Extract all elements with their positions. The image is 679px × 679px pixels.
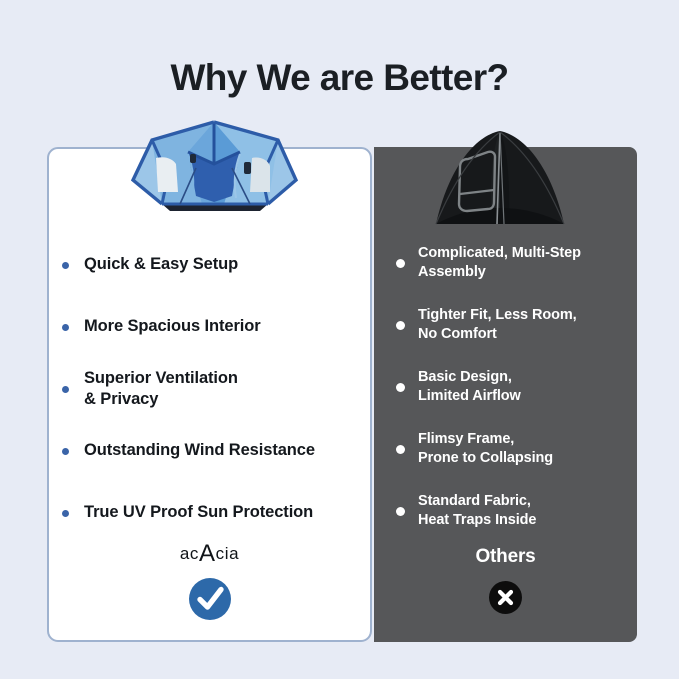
list-item: Complicated, Multi-StepAssembly: [396, 232, 628, 294]
list-item: True UV Proof Sun Protection: [62, 482, 362, 544]
list-item: Quick & Easy Setup: [62, 234, 362, 296]
brand-feature-list: Quick & Easy Setup More Spacious Interio…: [62, 234, 362, 544]
feature-label: Superior Ventilation& Privacy: [84, 368, 238, 410]
list-item: Outstanding Wind Resistance: [62, 420, 362, 482]
bullet-icon: [62, 386, 69, 393]
comparison-infographic: Why We are Better?: [0, 0, 679, 679]
feature-label: Quick & Easy Setup: [84, 254, 238, 275]
feature-label: True UV Proof Sun Protection: [84, 502, 313, 523]
bullet-icon: [62, 510, 69, 517]
feature-label: Complicated, Multi-StepAssembly: [418, 244, 581, 281]
competitor-footer: Others: [374, 545, 637, 614]
brand-logo-suffix: cia: [216, 544, 240, 563]
list-item: Tighter Fit, Less Room,No Comfort: [396, 294, 628, 356]
list-item: Basic Design,Limited Airflow: [396, 356, 628, 418]
check-circle-icon: [189, 578, 231, 620]
competitor-label: Others: [374, 545, 637, 569]
feature-label: Tighter Fit, Less Room,No Comfort: [418, 306, 577, 343]
bullet-icon: [62, 262, 69, 269]
list-item: Superior Ventilation& Privacy: [62, 358, 362, 420]
dark-dome-tent-image: [430, 128, 570, 231]
page-title: Why We are Better?: [0, 58, 679, 99]
brand-logo: acAcia: [47, 543, 372, 565]
feature-label: Basic Design,Limited Airflow: [418, 368, 521, 405]
bullet-icon: [396, 259, 405, 268]
brand-footer: acAcia: [47, 543, 372, 620]
x-circle-icon: [489, 581, 522, 614]
bullet-icon: [396, 383, 405, 392]
feature-label: More Spacious Interior: [84, 316, 261, 337]
bullet-icon: [62, 448, 69, 455]
bullet-icon: [62, 324, 69, 331]
feature-label: Standard Fabric,Heat Traps Inside: [418, 492, 536, 529]
competitor-feature-list: Complicated, Multi-StepAssembly Tighter …: [396, 232, 628, 542]
feature-label: Outstanding Wind Resistance: [84, 440, 315, 461]
list-item: More Spacious Interior: [62, 296, 362, 358]
list-item: Standard Fabric,Heat Traps Inside: [396, 480, 628, 542]
list-item: Flimsy Frame,Prone to Collapsing: [396, 418, 628, 480]
brand-logo-capital: A: [199, 540, 216, 567]
brand-logo-prefix: ac: [180, 544, 199, 563]
bullet-icon: [396, 321, 405, 330]
bullet-icon: [396, 507, 405, 516]
feature-label: Flimsy Frame,Prone to Collapsing: [418, 430, 553, 467]
blue-beach-tent-image: [128, 118, 300, 218]
bullet-icon: [396, 445, 405, 454]
